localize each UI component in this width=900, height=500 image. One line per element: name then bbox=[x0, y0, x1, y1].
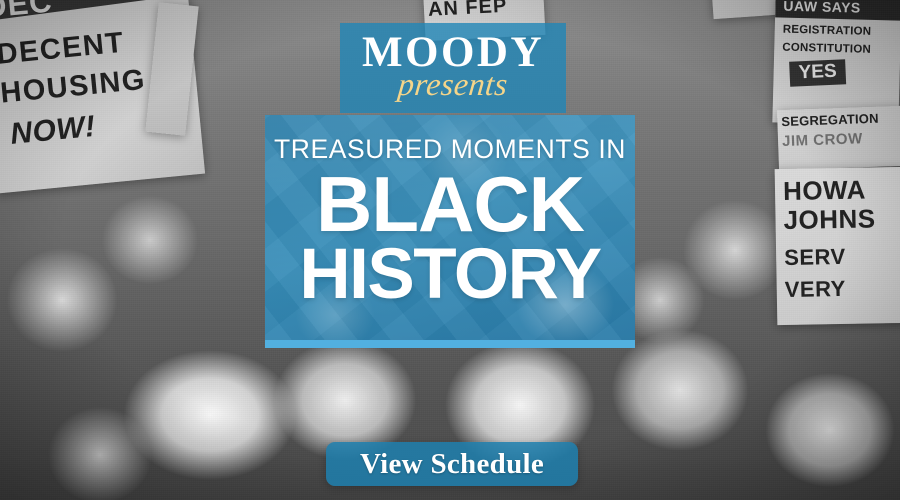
moody-brand-banner: MOODY presents bbox=[340, 23, 566, 113]
title-block: TREASURED MOMENTS IN BLACK HISTORY bbox=[265, 115, 635, 348]
sign-line-jim-crow: JIM CROW bbox=[782, 129, 900, 150]
title-line-black: BLACK bbox=[265, 169, 635, 241]
sign-line-fepc: AN FEP bbox=[427, 0, 544, 22]
title-kicker: TREASURED MOMENTS IN bbox=[265, 115, 635, 163]
moody-presents-script: presents bbox=[340, 68, 566, 100]
sign-line-very: VERY bbox=[785, 275, 900, 303]
sign-line-constitution: CONSTITUTION bbox=[774, 35, 900, 56]
sign-line-johns: JOHNS bbox=[783, 204, 900, 235]
title-line-history: HISTORY bbox=[265, 241, 635, 308]
protest-sign-segregation: SEGREGATION JIM CROW bbox=[777, 106, 900, 170]
sign-line-howa: HOWA bbox=[783, 175, 900, 206]
protest-sign-howard-johnson: HOWA JOHNS SERV VERY bbox=[775, 167, 900, 325]
black-history-promo-banner: DEC DECENT HOUSING NOW! AN FEP UAW SAYS … bbox=[0, 0, 900, 500]
sign-highlight-yes: YES bbox=[789, 59, 846, 86]
title-accent-stripe bbox=[265, 340, 635, 348]
view-schedule-button[interactable]: View Schedule bbox=[326, 442, 578, 486]
sign-line-dec: DEC bbox=[0, 0, 54, 26]
sign-line-segregation: SEGREGATION bbox=[781, 110, 900, 129]
view-schedule-label: View Schedule bbox=[360, 450, 544, 479]
sign-line-serv: SERV bbox=[784, 243, 900, 271]
sign-line-registration: REGISTRATION bbox=[775, 17, 900, 38]
